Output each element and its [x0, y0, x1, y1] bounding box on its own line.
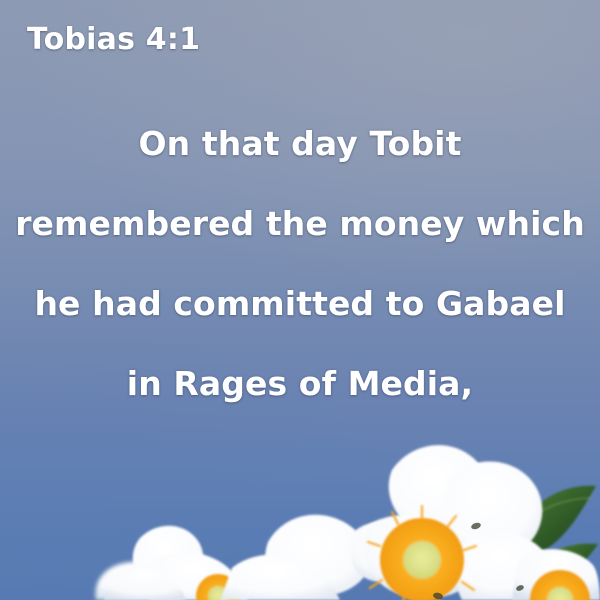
verse-line: he had committed to Gabael [0, 264, 600, 344]
verse-line: remembered the money which [0, 184, 600, 264]
anemone-flower-band [0, 410, 600, 600]
verse-image-card: Tobias 4:1 On that day Tobit remembered … [0, 0, 600, 600]
verse-line: On that day Tobit [0, 104, 600, 184]
verse-text-block: On that day Tobit remembered the money w… [0, 104, 600, 424]
verse-line: in Rages of Media, [0, 344, 600, 424]
verse-reference: Tobias 4:1 [27, 22, 200, 57]
